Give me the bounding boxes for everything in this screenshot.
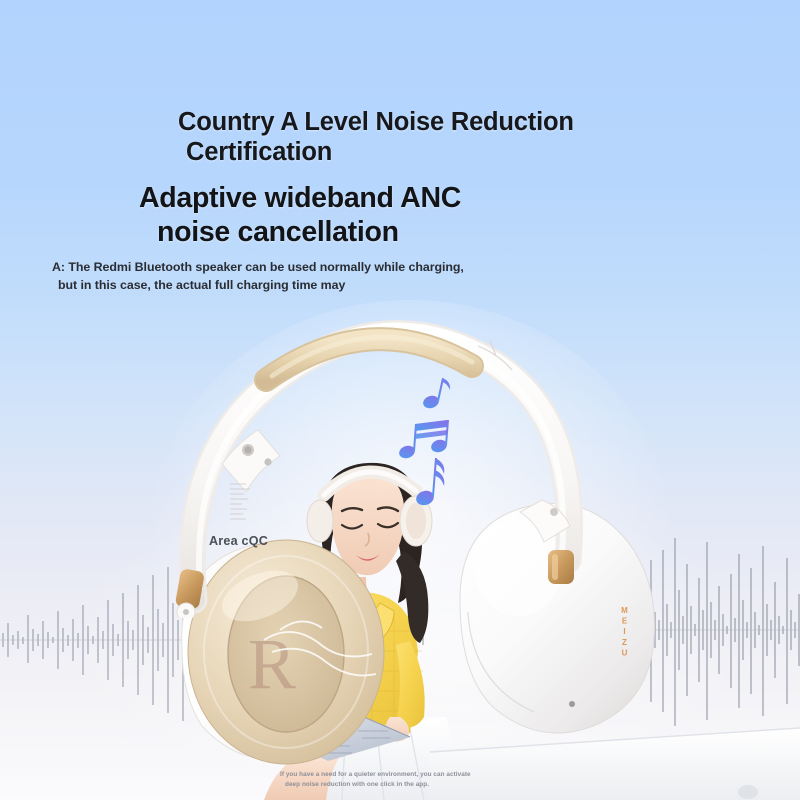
headline-secondary-line1: Adaptive wideband ANC — [139, 182, 461, 214]
footnote-caption: If you have a need for a quieter environ… — [280, 770, 620, 790]
headline-primary-line2: Certification — [186, 137, 738, 167]
page-title-primary: Country A Level Noise Reduction Certific… — [178, 107, 738, 167]
footnote-line1: If you have a need for a quieter environ… — [280, 771, 471, 778]
body-copy: A: The Redmi Bluetooth speaker can be us… — [52, 259, 672, 294]
music-notes-group — [398, 372, 518, 507]
body-copy-line1: A: The Redmi Bluetooth speaker can be us… — [52, 260, 464, 274]
area-cqc-label: Area cQC — [209, 534, 268, 548]
music-note-beamed — [398, 420, 449, 460]
advertisement-canvas: R — [0, 0, 800, 800]
footnote-line2: deep noise reduction with one click in t… — [285, 780, 620, 790]
music-note-single — [422, 378, 451, 410]
brand-mark-vertical: MEIZU — [620, 606, 629, 659]
body-copy-line2: but in this case, the actual full chargi… — [58, 277, 672, 295]
music-note-sixteenth — [414, 458, 444, 507]
headline-primary-line1: Country A Level Noise Reduction — [178, 108, 574, 136]
headphone-headband — [160, 318, 610, 618]
headline-secondary-line2: noise cancellation — [157, 215, 699, 249]
page-title-secondary: Adaptive wideband ANC noise cancellation — [139, 181, 699, 249]
